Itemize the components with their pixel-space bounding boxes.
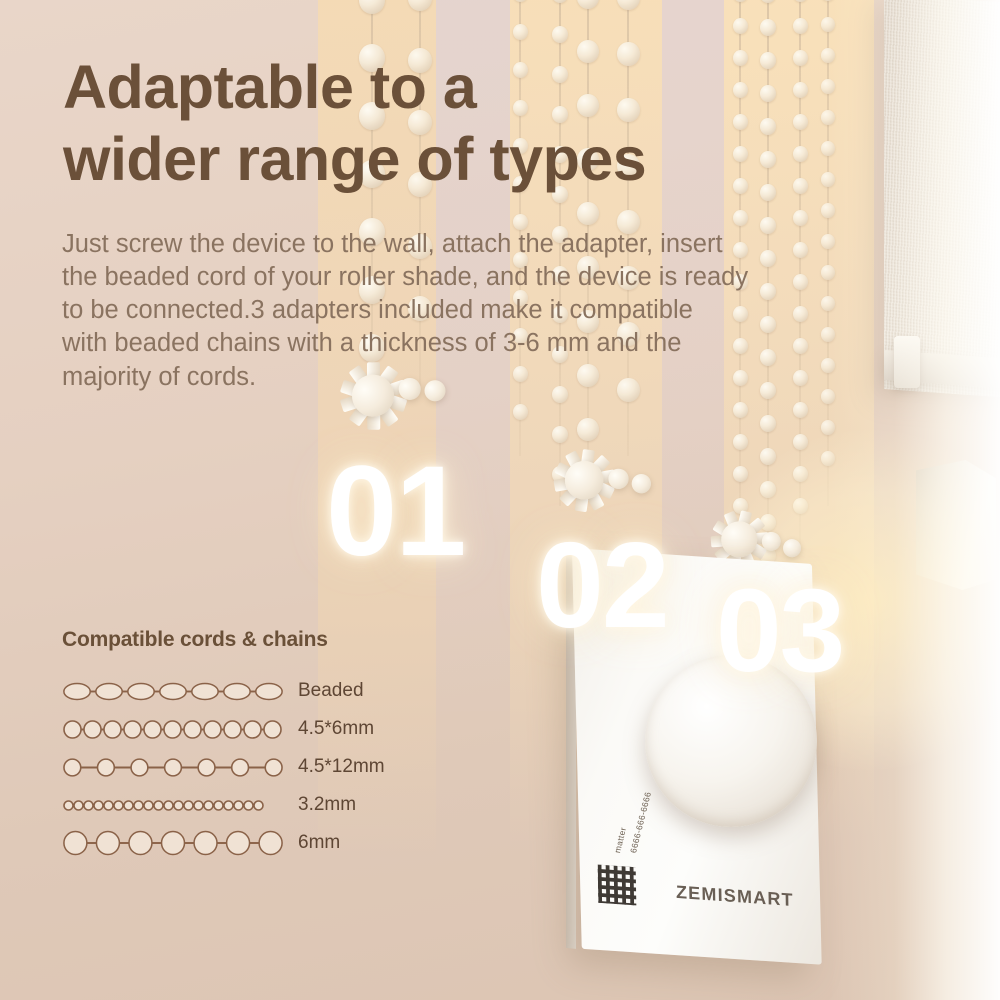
window-light-wash	[830, 0, 1000, 1000]
chain-bead	[733, 0, 748, 2]
chain-bead	[793, 146, 808, 162]
legend-rows: Beaded4.5*6mm4.5*12mm3.2mm6mm	[62, 672, 462, 862]
chain-bead	[760, 415, 776, 432]
chain-bead	[760, 19, 776, 36]
legend-label: 4.5*6mm	[284, 718, 374, 740]
legend-row: 4.5*6mm	[62, 710, 462, 748]
chain-bead	[793, 210, 808, 226]
chain-bead	[733, 18, 748, 34]
compatible-cords-legend: Compatible cords & chains Beaded4.5*6mm4…	[62, 628, 462, 862]
chain-bead	[552, 0, 568, 3]
chain-bead	[733, 402, 748, 418]
chain-micro-beads-icon	[62, 790, 284, 820]
legend-row: 3.2mm	[62, 786, 462, 824]
description-paragraph: Just screw the device to the wall, attac…	[62, 228, 924, 394]
product-marketing-image: matter 6666-666-6666 ZEMISMART 01 02 03 …	[0, 0, 1000, 1000]
body-line-3: to be connected.3 adapters included make…	[62, 294, 924, 327]
chain-large-round-icon	[62, 828, 284, 858]
body-line-2: the beaded cord of your roller shade, an…	[62, 261, 924, 294]
chain-bead	[793, 18, 808, 34]
chain-round-spaced-icon	[62, 752, 284, 782]
chain-bead	[552, 426, 568, 443]
chain-bead	[513, 404, 528, 420]
chain-bead	[617, 0, 640, 10]
chain-oval-link-icon	[62, 676, 284, 706]
legend-label: 3.2mm	[284, 794, 356, 816]
step-number-02: 02	[536, 524, 668, 646]
chain-bead	[793, 114, 808, 130]
chain-bead	[760, 0, 776, 3]
legend-row: 4.5*12mm	[62, 748, 462, 786]
chain-bead	[793, 50, 808, 66]
chain-bead	[552, 26, 568, 43]
legend-label: 6mm	[284, 832, 340, 854]
step-number-03: 03	[716, 572, 843, 690]
chain-bead	[733, 434, 748, 450]
step-number-01: 01	[326, 448, 464, 576]
chain-bead	[513, 24, 528, 40]
legend-label: 4.5*12mm	[284, 756, 385, 778]
chain-bead	[793, 402, 808, 418]
body-line-1: Just screw the device to the wall, attac…	[62, 228, 924, 261]
page-title: Adaptable to a wider range of types	[63, 52, 763, 196]
chain-bead	[408, 0, 432, 11]
chain-bead	[733, 466, 748, 482]
chain-round-tight-icon	[62, 714, 284, 744]
chain-bead	[513, 0, 528, 2]
body-line-5: majority of cords.	[62, 361, 924, 394]
chain-bead	[577, 0, 599, 9]
body-line-4: with beaded chains with a thickness of 3…	[62, 327, 924, 360]
legend-title: Compatible cords & chains	[62, 628, 462, 652]
legend-row: Beaded	[62, 672, 462, 710]
chain-bead	[733, 210, 748, 226]
qr-code-icon	[598, 865, 637, 906]
chain-bead	[793, 178, 808, 194]
chain-bead	[359, 0, 385, 14]
chain-bead	[793, 82, 808, 98]
chain-bead	[793, 0, 808, 2]
headline-line-2: wider range of types	[63, 124, 763, 196]
chain-bead	[577, 202, 599, 225]
headline-line-1: Adaptable to a	[63, 52, 763, 124]
legend-row: 6mm	[62, 824, 462, 862]
adapter-attached-bead	[761, 531, 781, 551]
chain-bead	[577, 418, 599, 441]
legend-label: Beaded	[284, 680, 364, 702]
